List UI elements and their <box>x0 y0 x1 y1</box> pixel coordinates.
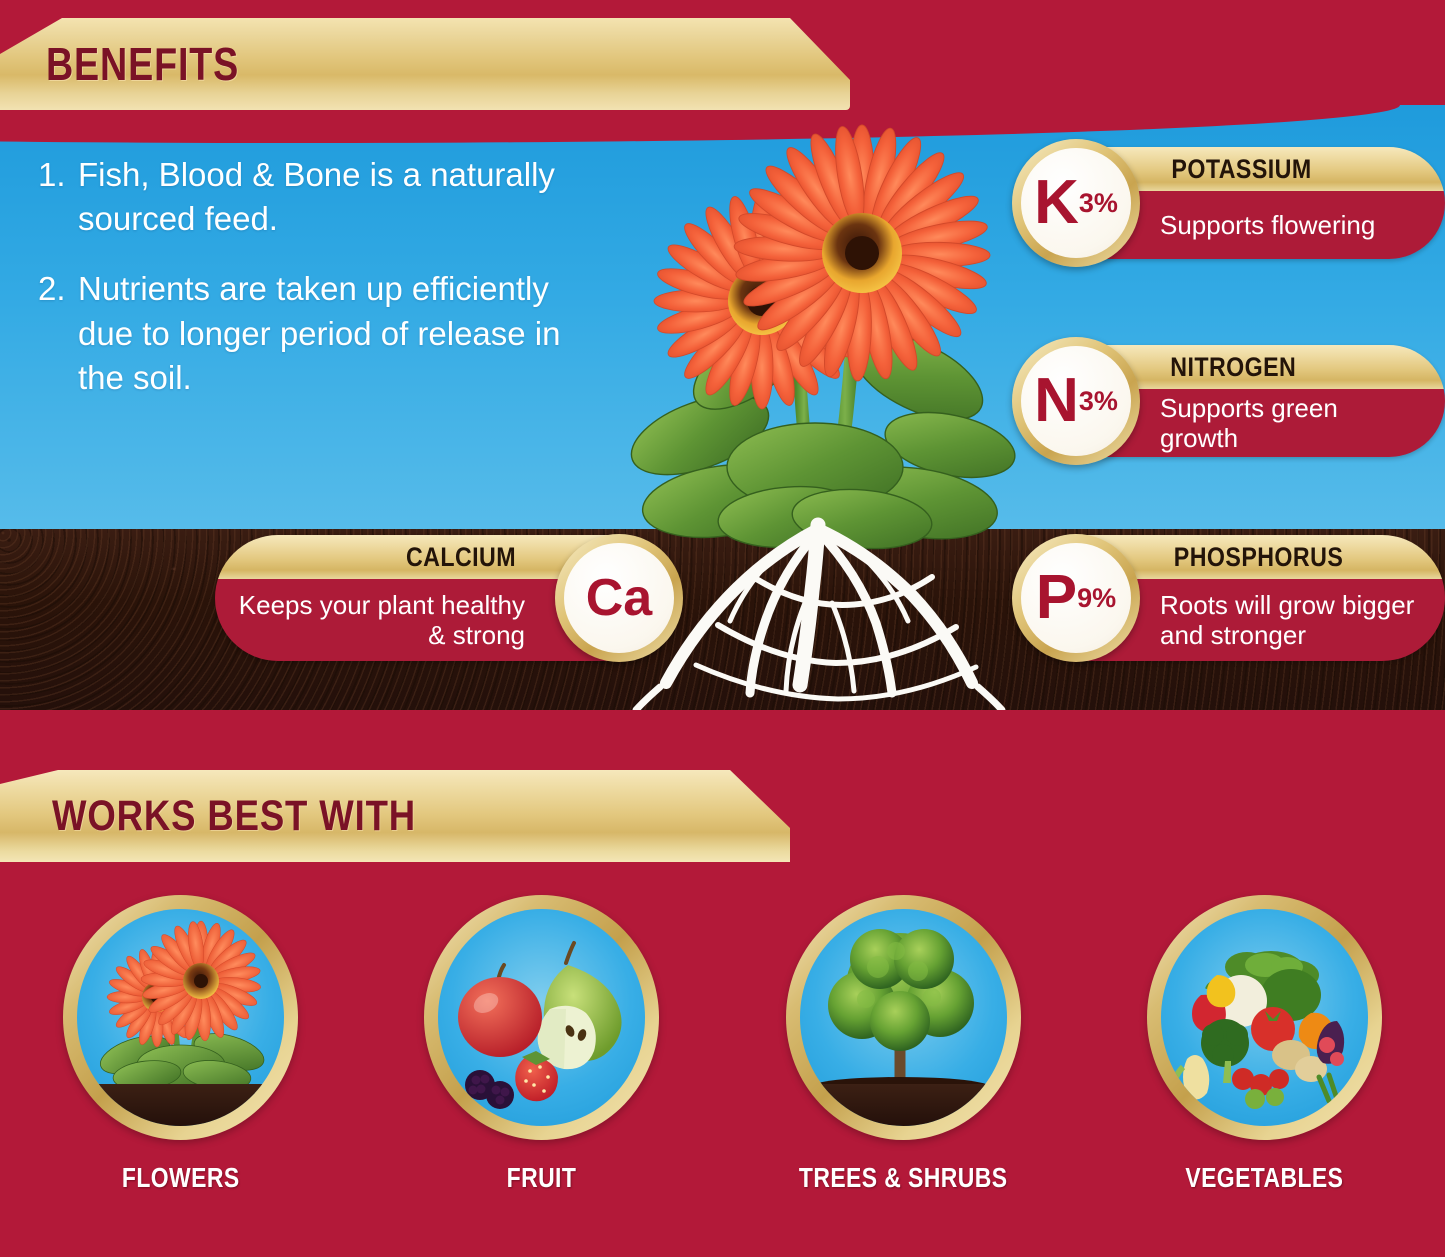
nutrient-badge-potassium: POTASSIUM Supports flowering K3% <box>1020 147 1445 259</box>
nutrient-name: CALCIUM <box>406 542 516 573</box>
benefits-title: BENEFITS <box>46 37 239 91</box>
benefit-number: 1. <box>38 153 78 241</box>
category-list: FLOWERS <box>0 895 1445 1225</box>
category-ring <box>63 895 298 1140</box>
nutrient-description: Roots will grow bigger and stronger <box>1160 590 1423 651</box>
benefit-item: 1. Fish, Blood & Bone is a naturally sou… <box>38 153 598 241</box>
nutrient-symbol: P <box>1036 567 1077 629</box>
nutrient-symbol-circle: Ca <box>555 534 683 662</box>
flowers-image <box>77 909 284 1126</box>
category-label: TREES & SHRUBS <box>799 1162 1008 1194</box>
category-soil <box>77 1084 284 1126</box>
category-label: FLOWERS <box>122 1162 240 1194</box>
nutrient-name: NITROGEN <box>1170 352 1296 383</box>
nutrient-description: Supports flowering <box>1160 210 1423 240</box>
nutrient-symbol-circle: N3% <box>1012 337 1140 465</box>
nutrient-description: Supports green growth <box>1160 393 1423 454</box>
category-label: VEGETABLES <box>1185 1162 1343 1194</box>
nutrient-symbol: N <box>1034 370 1079 432</box>
nutrient-symbol-inner: N3% <box>1021 346 1131 456</box>
category-ring <box>424 895 659 1140</box>
nutrient-symbol-circle: P9% <box>1012 534 1140 662</box>
works-best-with-banner: WORKS BEST WITH <box>0 770 790 862</box>
trees-image <box>800 909 1007 1126</box>
works-best-with-title: WORKS BEST WITH <box>52 792 416 841</box>
nutrient-percent: 9% <box>1077 585 1116 612</box>
nutrient-description: Keeps your plant healthy & strong <box>237 590 525 651</box>
nutrient-symbol-circle: K3% <box>1012 139 1140 267</box>
nutrient-symbol: K <box>1034 172 1079 234</box>
nutrient-percent: 3% <box>1079 388 1118 415</box>
nutrient-symbol-inner: Ca <box>564 543 674 653</box>
benefit-number: 2. <box>38 267 78 400</box>
vegetables-image <box>1161 909 1368 1126</box>
fruit-image <box>438 909 645 1126</box>
category-ring <box>786 895 1021 1140</box>
nutrient-badge-nitrogen: NITROGEN Supports green growth N3% <box>1020 345 1445 457</box>
category-ring <box>1147 895 1382 1140</box>
category-trees-shrubs[interactable]: TREES & SHRUBS <box>723 895 1084 1225</box>
nutrient-name: PHOSPHORUS <box>1174 542 1343 573</box>
nutrient-badge-calcium: CALCIUM Keeps your plant healthy & stron… <box>215 535 675 661</box>
benefits-scene: 1. Fish, Blood & Bone is a naturally sou… <box>0 105 1445 710</box>
benefits-list: 1. Fish, Blood & Bone is a naturally sou… <box>38 153 598 426</box>
category-flowers[interactable]: FLOWERS <box>0 895 361 1225</box>
nutrient-badge-phosphorus: PHOSPHORUS Roots will grow bigger and st… <box>1020 535 1445 661</box>
benefits-banner: BENEFITS <box>0 18 850 110</box>
nutrient-symbol: Ca <box>586 572 652 624</box>
category-soil <box>800 1084 1007 1126</box>
nutrient-symbol-inner: K3% <box>1021 148 1131 258</box>
benefit-text: Nutrients are taken up efficiently due t… <box>78 267 598 400</box>
category-vegetables[interactable]: VEGETABLES <box>1084 895 1445 1225</box>
nutrient-symbol-inner: P9% <box>1021 543 1131 653</box>
nutrient-percent: 3% <box>1079 190 1118 217</box>
category-label: FRUIT <box>507 1162 577 1194</box>
benefit-item: 2. Nutrients are taken up efficiently du… <box>38 267 598 400</box>
benefit-text: Fish, Blood & Bone is a naturally source… <box>78 153 598 241</box>
category-fruit[interactable]: FRUIT <box>361 895 722 1225</box>
nutrient-name: POTASSIUM <box>1171 154 1311 185</box>
